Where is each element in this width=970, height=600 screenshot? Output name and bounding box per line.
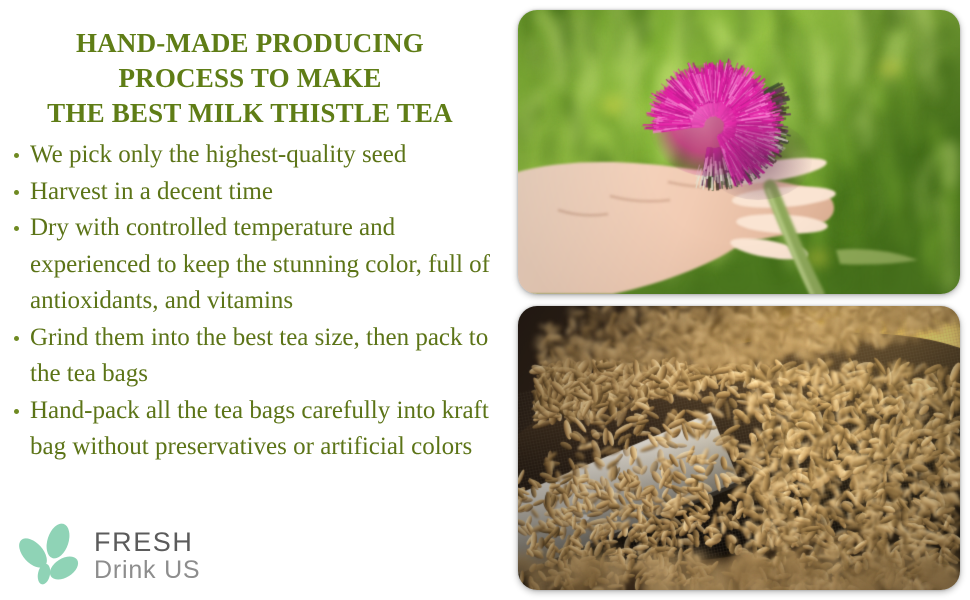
infographic-root: HAND-MADE PRODUCING PROCESS TO MAKE THE … — [0, 0, 970, 600]
brand-name-primary: FRESH — [94, 529, 200, 556]
brand-name-secondary: Drink US — [94, 558, 200, 583]
leaf-cluster-svg — [14, 521, 88, 589]
list-item-label: We pick only the highest-quality seed — [30, 137, 507, 174]
bullet-icon — [14, 336, 19, 341]
headline-line-3: THE BEST MILK THISTLE TEA — [0, 96, 500, 131]
list-item-label: Grind them into the best tea size, then … — [30, 320, 507, 393]
list-item-label: Hand-pack all the tea bags carefully int… — [30, 393, 507, 466]
process-steps-list: We pick only the highest-quality seed Ha… — [12, 137, 507, 466]
headline-line-2: PROCESS TO MAKE — [0, 61, 500, 96]
page-title: HAND-MADE PRODUCING PROCESS TO MAKE THE … — [0, 26, 500, 131]
leaf-cluster-icon — [14, 521, 88, 589]
headline-line-1: HAND-MADE PRODUCING — [0, 26, 500, 61]
thistle-flower-image — [518, 10, 960, 294]
seed-sieve-photo — [518, 306, 960, 590]
seed-sieve-image — [518, 306, 960, 590]
list-item: Harvest in a decent time — [12, 174, 507, 211]
bullet-icon — [14, 226, 19, 231]
list-item-label: Harvest in a decent time — [30, 174, 507, 211]
brand-logo: FRESH Drink US — [14, 521, 244, 589]
list-item: Hand-pack all the tea bags carefully int… — [12, 393, 507, 466]
bullet-icon — [14, 190, 19, 195]
list-item-label: Dry with controlled temperature and expe… — [30, 210, 507, 320]
text-column: HAND-MADE PRODUCING PROCESS TO MAKE THE … — [0, 0, 512, 600]
brand-wordmark: FRESH Drink US — [94, 527, 200, 583]
list-item: Dry with controlled temperature and expe… — [12, 210, 507, 320]
photo-column — [518, 10, 960, 590]
list-item: We pick only the highest-quality seed — [12, 137, 507, 174]
bullet-icon — [14, 153, 19, 158]
list-item: Grind them into the best tea size, then … — [12, 320, 507, 393]
thistle-flower-photo — [518, 10, 960, 294]
bullet-icon — [14, 409, 19, 414]
